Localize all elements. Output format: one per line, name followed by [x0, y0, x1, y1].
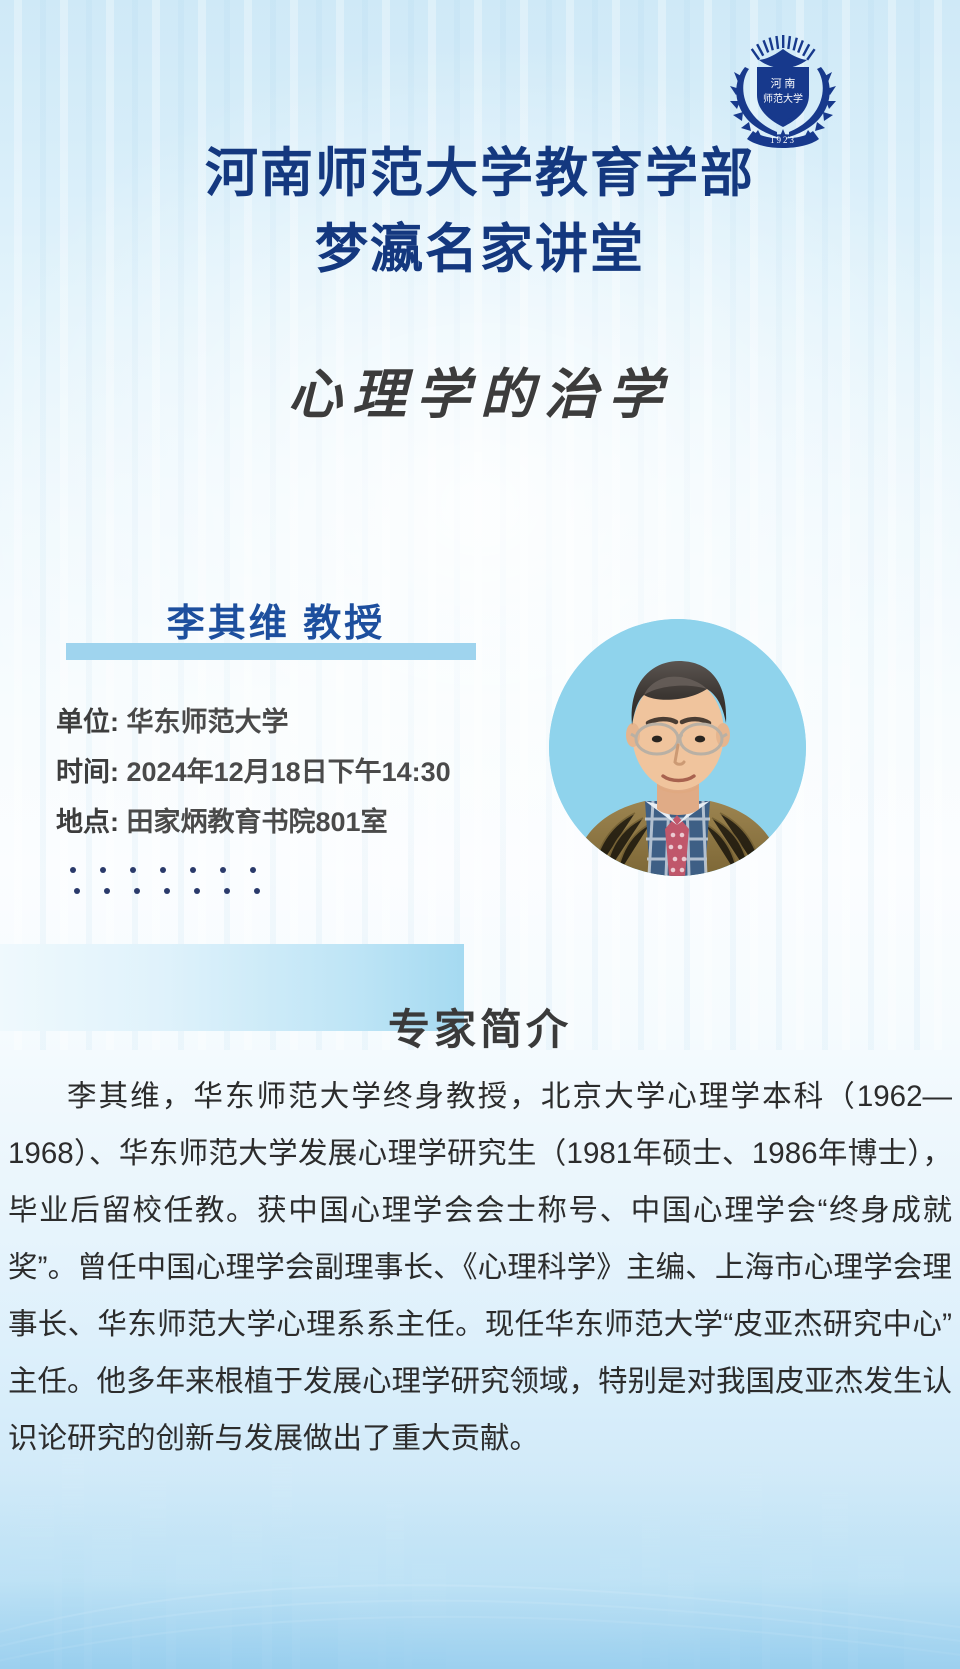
dot: [250, 867, 256, 873]
dot: [164, 888, 170, 894]
dot: [194, 888, 200, 894]
detail-value-time: 2024年12月18日下午14:30: [127, 757, 451, 787]
detail-row-location: 地点: 田家炳教育书院801室: [56, 797, 576, 847]
detail-label-affiliation: 单位:: [56, 707, 119, 737]
org-title-line-2: 梦瀛名家讲堂: [0, 212, 960, 288]
lecture-details: 单位: 华东师范大学 时间: 2024年12月18日下午14:30 地点: 田家…: [56, 697, 576, 847]
dot: [254, 888, 260, 894]
expert-biography-text: 李其维，华东师范大学终身教授，北京大学心理学本科（1962—1968）、华东师范…: [8, 1068, 952, 1467]
detail-value-location: 田家炳教育书院801室: [127, 807, 388, 837]
dot-grid-decoration: [70, 867, 260, 909]
dot: [224, 888, 230, 894]
org-title-line-1: 河南师范大学教育学部: [0, 136, 960, 212]
portrait-illustration: [549, 619, 806, 876]
detail-label-time: 时间:: [56, 757, 119, 787]
bottom-glow: [0, 1469, 960, 1669]
dot: [104, 888, 110, 894]
speaker-name-underline-bar: [66, 643, 476, 660]
logo-shield-text-top: 河 南: [771, 77, 796, 90]
dot-row-1: [70, 867, 260, 873]
dot: [100, 867, 106, 873]
lecture-poster: 河 南 师范大学 1923 河南师范大学教育学部 梦瀛名家讲堂 心理学的治学 李…: [0, 0, 960, 1669]
dot-row-2: [74, 888, 260, 894]
lecture-title: 心理学的治学: [0, 350, 960, 429]
dot: [130, 867, 136, 873]
speaker-name: 李其维 教授: [66, 592, 486, 647]
detail-row-time: 时间: 2024年12月18日下午14:30: [56, 747, 576, 797]
dot: [160, 867, 166, 873]
speaker-portrait: [549, 619, 806, 876]
section-heading-expert-profile: 专家简介: [0, 996, 960, 1057]
dot: [134, 888, 140, 894]
detail-label-location: 地点:: [56, 807, 119, 837]
university-logo-icon: 河 南 师范大学 1923: [727, 33, 839, 149]
dot: [74, 888, 80, 894]
detail-value-affiliation: 华东师范大学: [127, 707, 289, 737]
dot: [190, 867, 196, 873]
dot: [220, 867, 226, 873]
logo-shield-text-bottom: 师范大学: [763, 92, 803, 105]
detail-row-affiliation: 单位: 华东师范大学: [56, 697, 576, 747]
dot: [70, 867, 76, 873]
organization-title: 河南师范大学教育学部 梦瀛名家讲堂: [0, 136, 960, 288]
